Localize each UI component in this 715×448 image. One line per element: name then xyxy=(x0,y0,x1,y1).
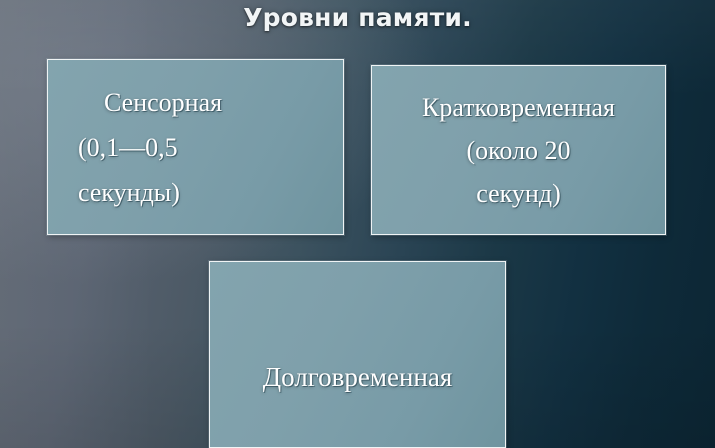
memory-level-box-sensory[interactable]: Сенсорная (0,1—0,5 секунды) xyxy=(47,59,344,235)
box-sensory-line-1: Сенсорная xyxy=(70,80,343,125)
page-title: Уровни памяти. xyxy=(0,3,715,32)
box-short-term-line-1: Кратковременная xyxy=(376,86,661,129)
box-long-term-line-1: Долговременная xyxy=(214,357,501,397)
memory-level-box-short-term[interactable]: Кратковременная (около 20 секунд) xyxy=(371,65,666,235)
memory-levels-slide: Уровни памяти. Сенсорная (0,1—0,5 секунд… xyxy=(0,0,715,448)
memory-level-box-long-term[interactable]: Долговременная xyxy=(209,261,506,448)
box-short-term-line-2: (около 20 xyxy=(376,129,661,172)
box-sensory-line-3: секунды) xyxy=(70,170,343,215)
box-short-term-line-3: секунд) xyxy=(376,172,661,215)
box-sensory-line-2: (0,1—0,5 xyxy=(70,125,343,170)
